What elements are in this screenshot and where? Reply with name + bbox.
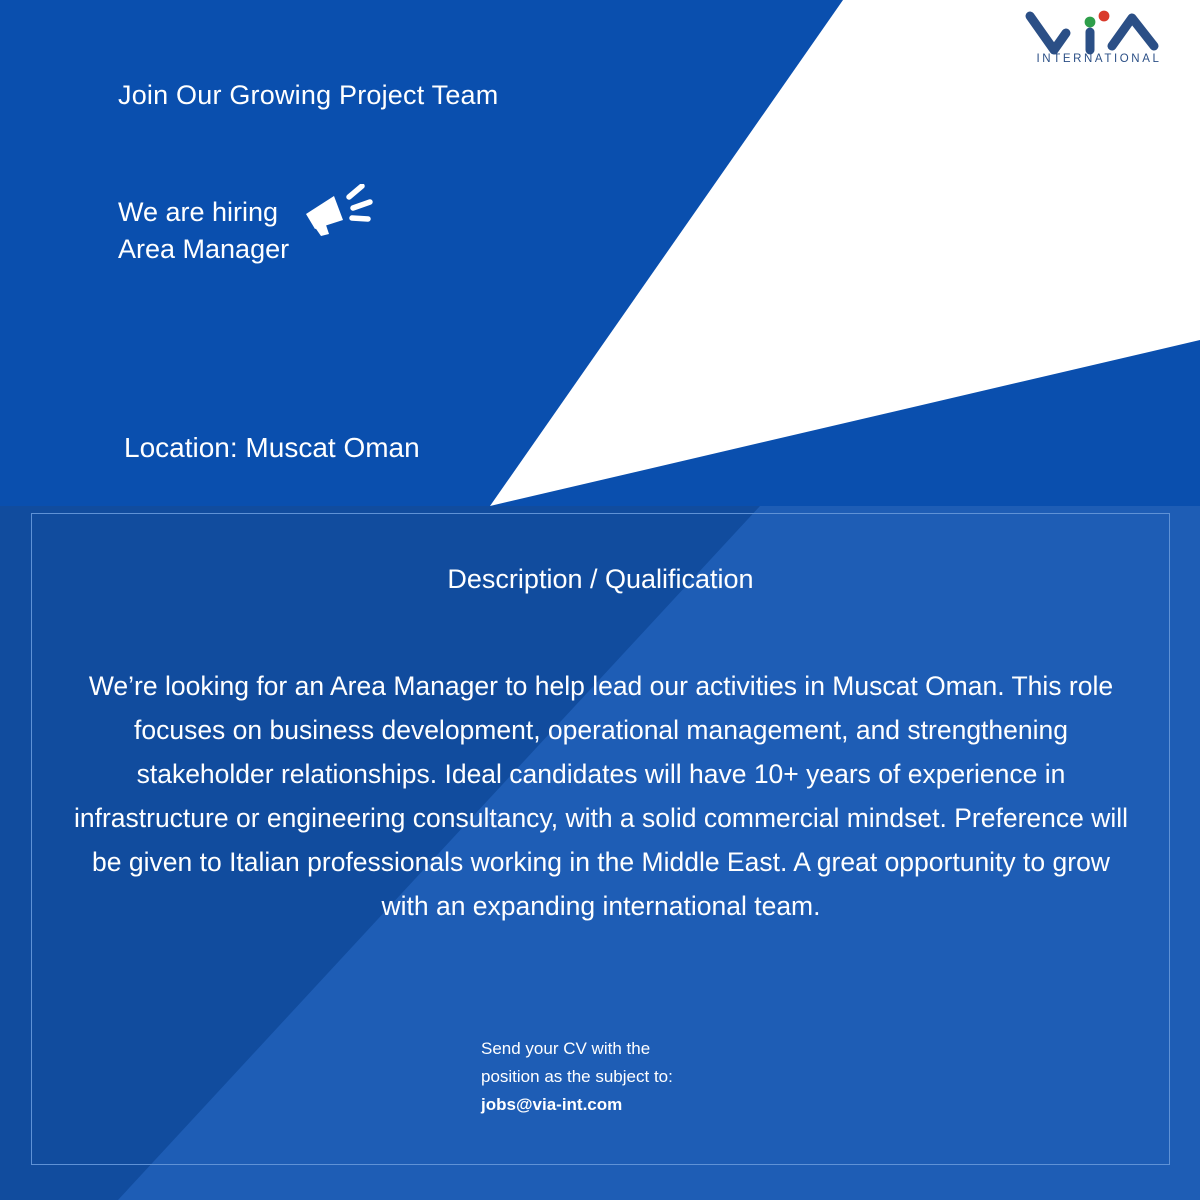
- cv-line-1: Send your CV with the: [481, 1035, 673, 1063]
- cv-email-address[interactable]: jobs@via-int.com: [481, 1091, 673, 1119]
- megaphone-ray-top: [349, 186, 362, 197]
- via-international-logo: INTERNATIONAL: [1020, 6, 1178, 64]
- logo-a-stroke: [1112, 18, 1154, 46]
- megaphone-ray-middle: [353, 202, 370, 208]
- job-location: Location: Muscat Oman: [124, 432, 420, 464]
- job-description-text: We’re looking for an Area Manager to hel…: [70, 664, 1132, 928]
- top-section: Join Our Growing Project Team We are hir…: [0, 0, 1200, 510]
- description-panel-inner: Description / Qualification We’re lookin…: [32, 514, 1169, 1164]
- logo-v-stroke: [1030, 16, 1066, 50]
- hiring-label: We are hiring: [118, 197, 278, 228]
- hiring-announcement-row: We are hiring: [118, 188, 374, 236]
- cv-instructions: Send your CV with the position as the su…: [481, 1035, 673, 1119]
- description-panel: Description / Qualification We’re lookin…: [31, 513, 1170, 1165]
- headline: Join Our Growing Project Team: [118, 80, 498, 111]
- logo-subtitle: INTERNATIONAL: [1037, 53, 1162, 64]
- megaphone-icon: [300, 184, 374, 236]
- recruitment-poster: INTERNATIONAL Join Our Growing Project T…: [0, 0, 1200, 1200]
- logo-dot-green: [1085, 17, 1096, 28]
- job-title: Area Manager: [118, 234, 289, 265]
- cv-line-2: position as the subject to:: [481, 1063, 673, 1091]
- megaphone-ray-bottom: [352, 218, 368, 219]
- logo-dot-red: [1099, 11, 1110, 22]
- section-title: Description / Qualification: [32, 564, 1169, 595]
